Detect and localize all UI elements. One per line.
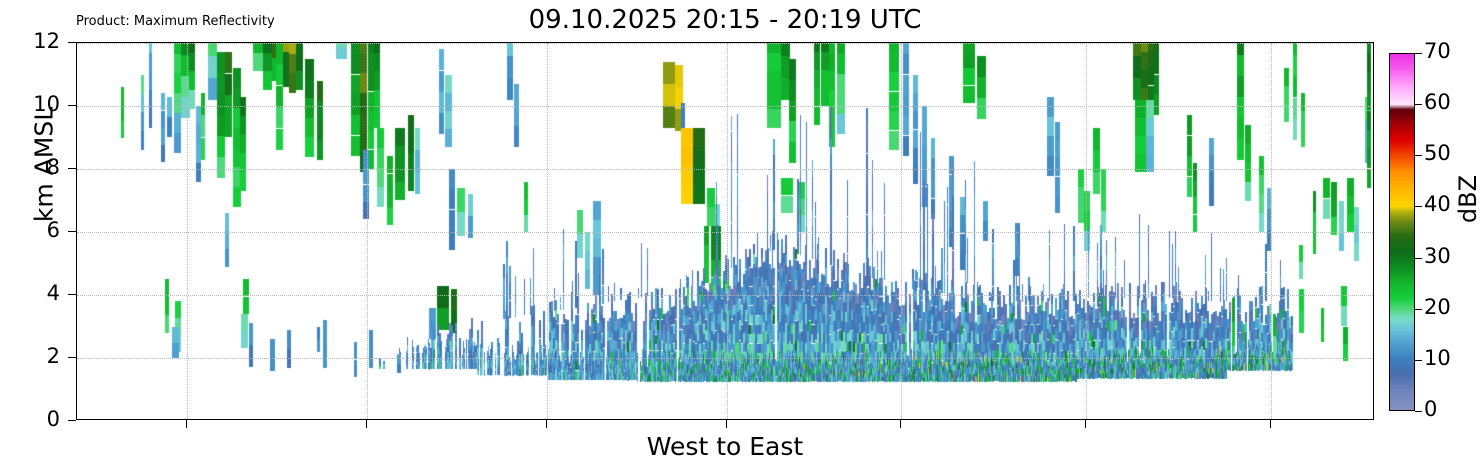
x-tick-mark — [1270, 420, 1271, 428]
gridline-horizontal — [77, 232, 1373, 233]
colorbar-border — [1389, 53, 1415, 411]
x-tick-mark — [546, 420, 547, 428]
x-tick-mark — [186, 420, 187, 428]
y-tick-mark — [68, 231, 76, 232]
colorbar-tick-label: 50 — [1424, 143, 1451, 164]
colorbar-tick-mark — [1415, 258, 1422, 259]
x-tick-mark — [726, 420, 727, 428]
x-tick-mark — [900, 420, 901, 428]
y-tick-label: 4 — [20, 283, 60, 304]
gridline-vertical — [901, 43, 902, 419]
y-tick-mark — [68, 294, 76, 295]
x-tick-mark — [366, 420, 367, 428]
y-tick-mark — [68, 357, 76, 358]
colorbar-tick-label: 10 — [1424, 348, 1451, 369]
radar-cross-section-figure: 09.10.2025 20:15 - 20:19 UTC Product: Ma… — [0, 0, 1482, 470]
colorbar-tick-label: 20 — [1424, 297, 1451, 318]
gridline-vertical — [187, 43, 188, 419]
x-tick-mark — [1085, 420, 1086, 428]
y-tick-mark — [68, 420, 76, 421]
colorbar-tick-mark — [1415, 309, 1422, 310]
colorbar-tick-label: 70 — [1424, 41, 1451, 62]
gridline-horizontal — [77, 106, 1373, 107]
gridline-horizontal — [77, 295, 1373, 296]
gridline-vertical — [1271, 43, 1272, 419]
colorbar-tick-label: 30 — [1424, 246, 1451, 267]
colorbar-tick-label: 0 — [1424, 399, 1437, 420]
gridline-horizontal — [77, 358, 1373, 359]
gridline-horizontal — [77, 43, 1373, 44]
y-tick-mark — [68, 105, 76, 106]
colorbar — [1389, 53, 1415, 411]
y-tick-label: 0 — [20, 409, 60, 430]
colorbar-tick-mark — [1415, 155, 1422, 156]
x-axis-label: West to East — [76, 432, 1374, 461]
colorbar-tick-mark — [1415, 411, 1422, 412]
product-label: Product: Maximum Reflectivity — [76, 14, 275, 29]
y-tick-mark — [68, 168, 76, 169]
colorbar-tick-mark — [1415, 53, 1422, 54]
gridline-vertical — [727, 43, 728, 419]
y-tick-mark — [68, 42, 76, 43]
gridline-vertical — [547, 43, 548, 419]
colorbar-tick-mark — [1415, 206, 1422, 207]
colorbar-tick-label: 40 — [1424, 194, 1451, 215]
colorbar-tick-mark — [1415, 104, 1422, 105]
colorbar-tick-mark — [1415, 360, 1422, 361]
y-tick-label: 6 — [20, 220, 60, 241]
gridline-horizontal — [77, 169, 1373, 170]
y-tick-label: 12 — [20, 31, 60, 52]
gridline-vertical — [367, 43, 368, 419]
y-tick-label: 10 — [20, 94, 60, 115]
y-tick-label: 2 — [20, 346, 60, 367]
y-tick-label: 8 — [20, 157, 60, 178]
gridline-vertical — [1086, 43, 1087, 419]
plot-area — [76, 42, 1374, 420]
colorbar-tick-label: 60 — [1424, 92, 1451, 113]
colorbar-label: dBZ — [1454, 139, 1482, 259]
